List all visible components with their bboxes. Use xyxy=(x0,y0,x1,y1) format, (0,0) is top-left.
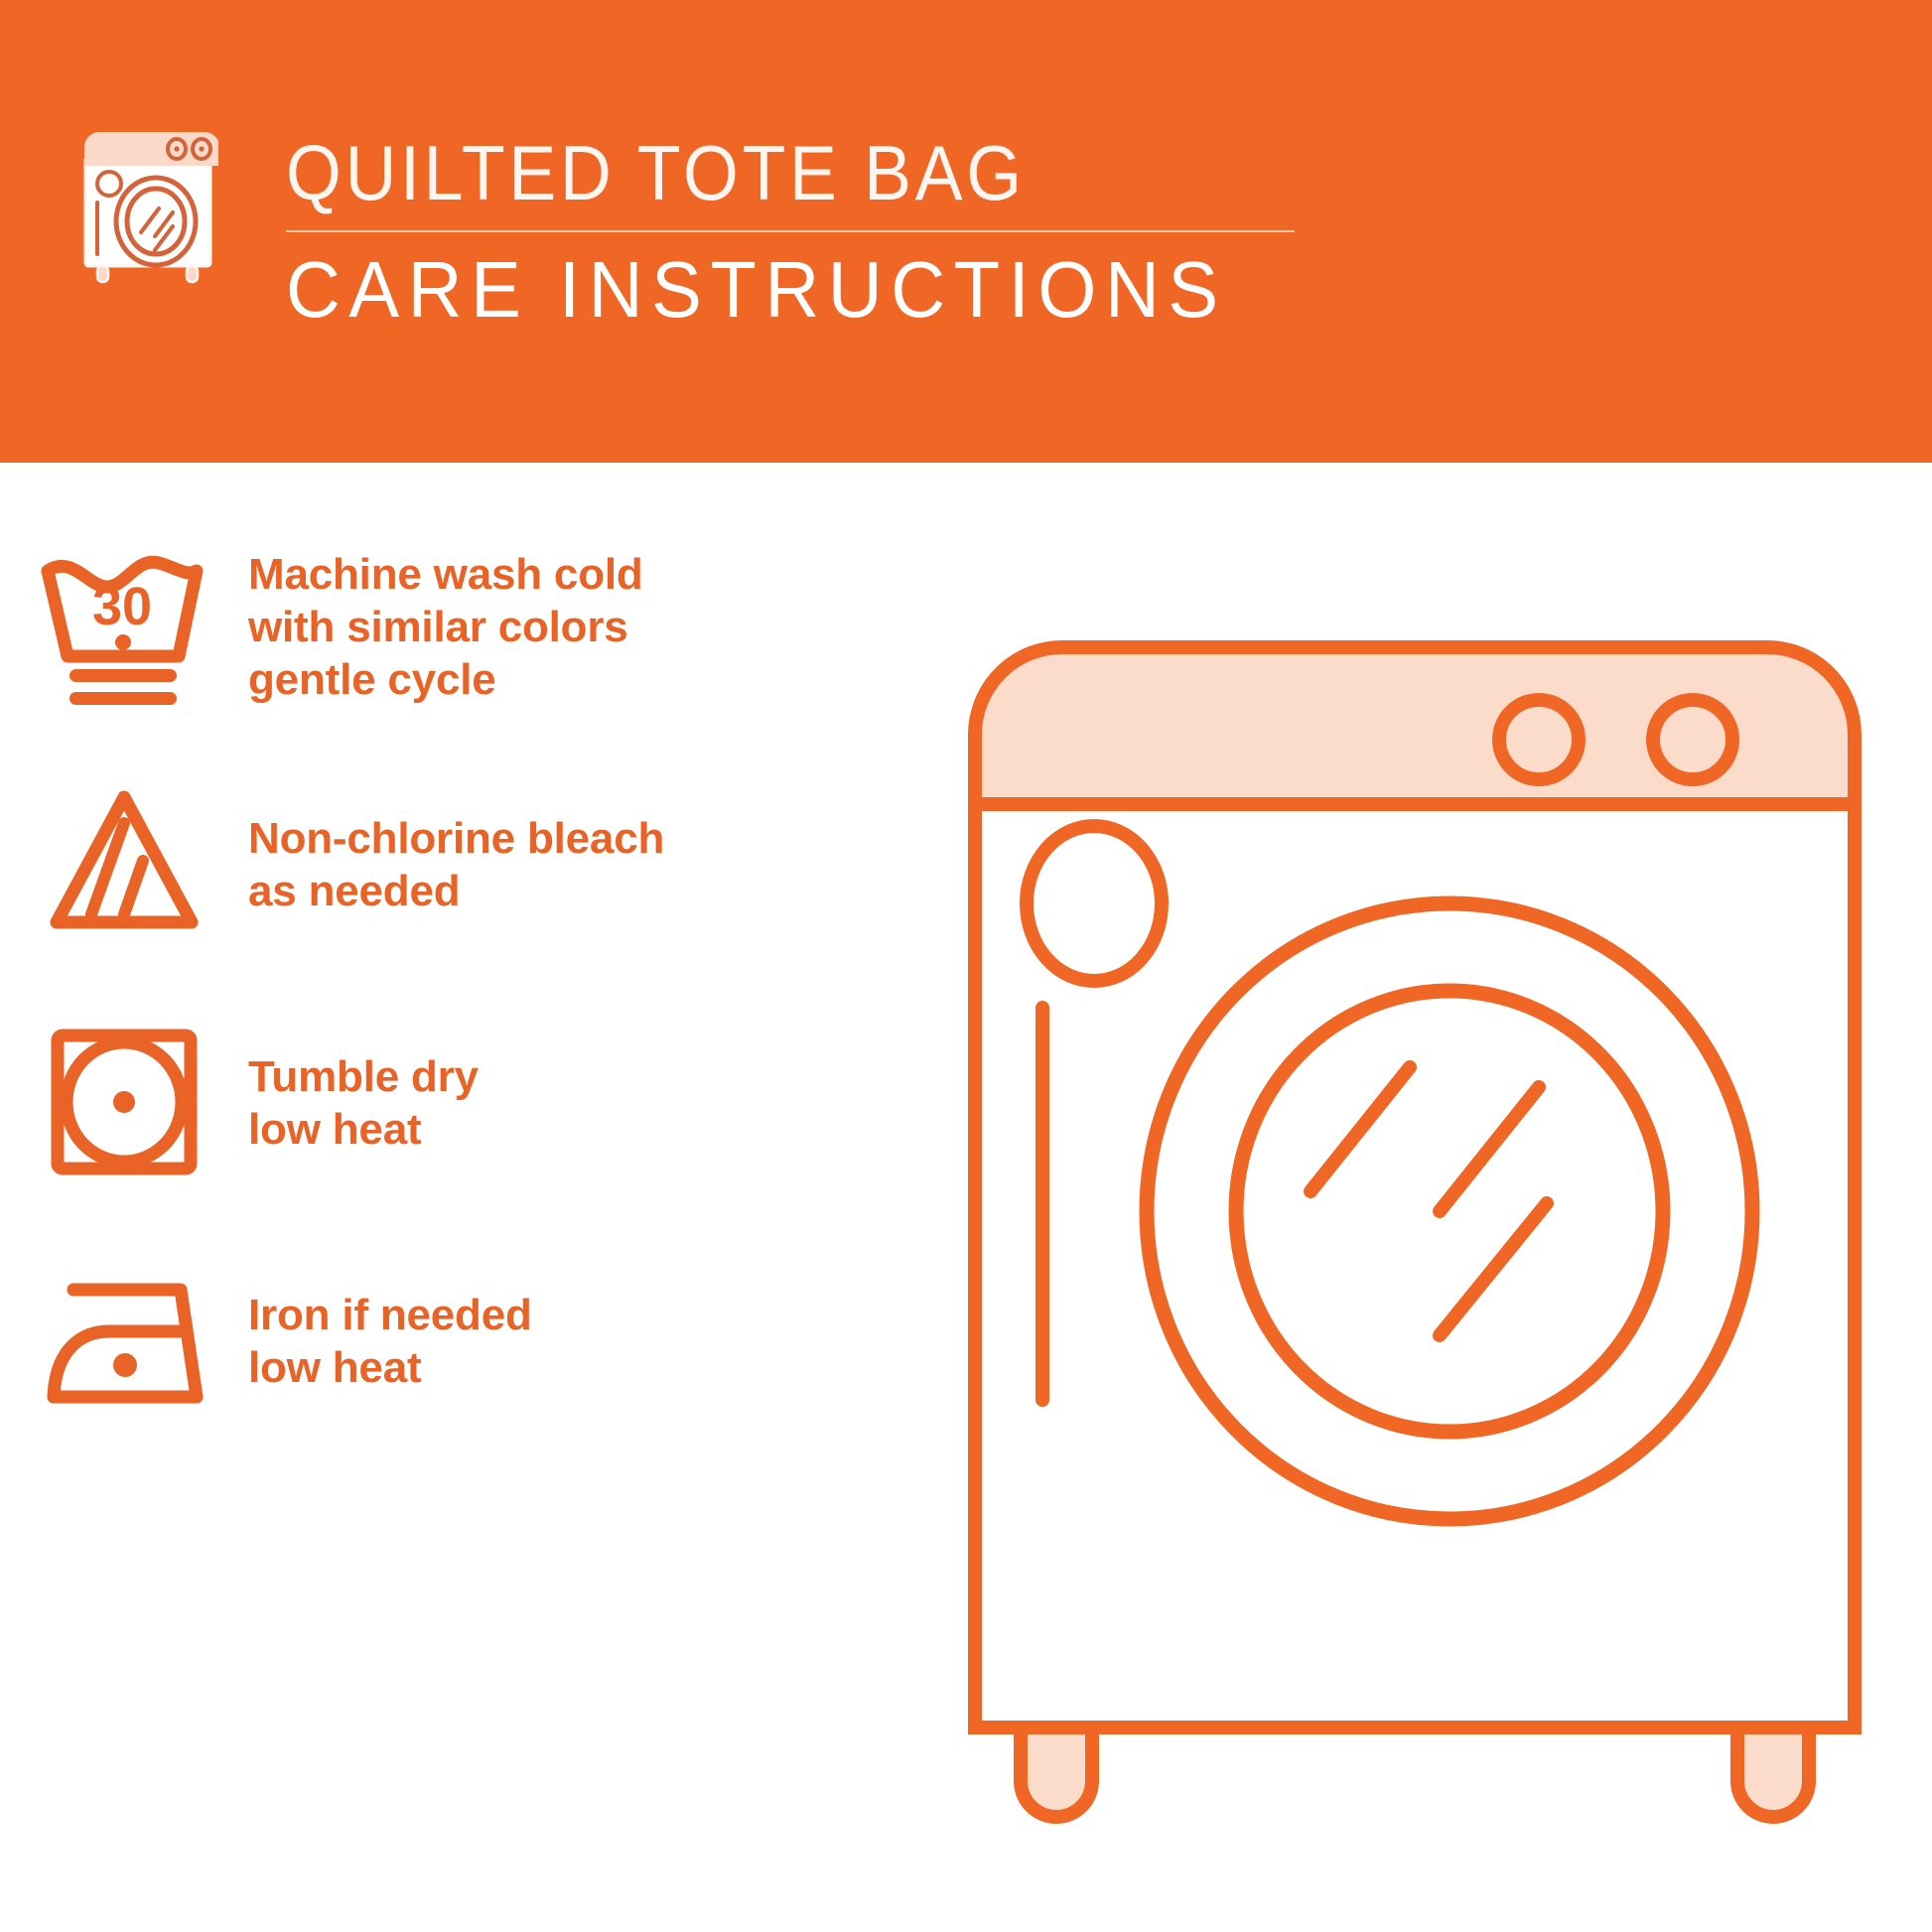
list-item: 30 Machine wash cold with similar colors… xyxy=(0,522,913,731)
list-item: Iron if needed low heat xyxy=(0,1237,913,1446)
cabinet-body xyxy=(975,804,1855,1727)
wash-tub-30-gentle-icon: 30 xyxy=(0,522,248,731)
page-title: QUILTED TOTE BAG xyxy=(286,131,1236,214)
page-subtitle: CARE INSTRUCTIONS xyxy=(286,246,1267,334)
list-item-label: Tumble dry low heat xyxy=(248,1050,479,1156)
list-item-label: Iron if needed low heat xyxy=(248,1289,532,1394)
list-item: Tumble dry low heat xyxy=(0,999,913,1207)
washing-machine-icon xyxy=(77,127,218,286)
iron-low-heat-icon xyxy=(0,1237,248,1446)
title-divider xyxy=(286,230,1295,232)
list-item-label: Non-chlorine bleach as needed xyxy=(248,812,664,917)
care-instruction-list: 30 Machine wash cold with similar colors… xyxy=(0,463,913,1932)
header-banner: QUILTED TOTE BAG CARE INSTRUCTIONS xyxy=(0,0,1932,463)
header-title-block: QUILTED TOTE BAG CARE INSTRUCTIONS xyxy=(286,131,1318,334)
list-item-label: Machine wash cold with similar colors ge… xyxy=(248,548,643,706)
front-load-washing-machine-illustration xyxy=(943,616,1886,1857)
non-chlorine-bleach-triangle-icon xyxy=(0,760,248,969)
wash-temperature-value: 30 xyxy=(92,577,152,636)
list-item: Non-chlorine bleach as needed xyxy=(0,760,913,969)
tumble-dry-low-icon xyxy=(0,999,248,1207)
